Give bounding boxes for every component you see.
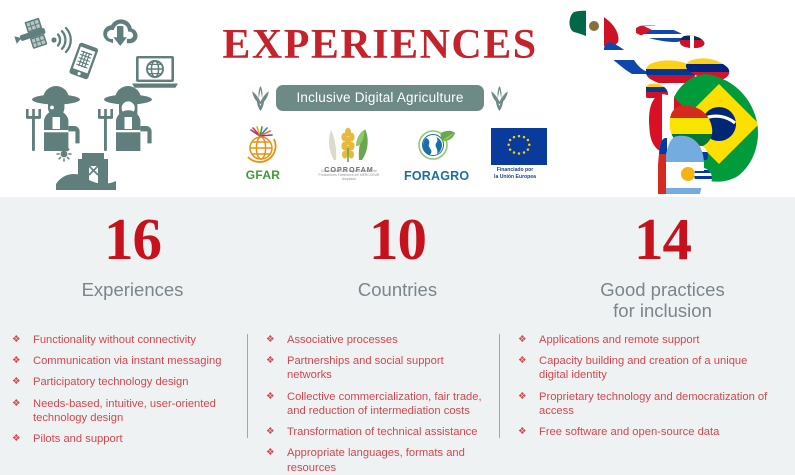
- foragro-logo: FORAGRO: [404, 126, 466, 184]
- stat-good-practices-label: Good practices for inclusion: [530, 280, 795, 321]
- bullet-columns: ❖Functionality without connectivity ❖Com…: [0, 333, 795, 445]
- header-band: EXPERIENCES Inclusive Digital Agricultur…: [0, 0, 795, 197]
- list-item: ❖Free software and open-source data: [518, 425, 779, 439]
- list-item-text: Transformation of technical assistance: [287, 426, 477, 438]
- corn-leaf-ornament-left-icon: [252, 85, 269, 111]
- experiences-list: ❖Functionality without connectivity ❖Com…: [12, 333, 236, 446]
- list-item-text: Applications and remote support: [539, 334, 699, 346]
- agriculture-icon-cluster: [4, 6, 184, 196]
- floret-bullet-icon: ❖: [518, 333, 527, 346]
- cloud-download-icon: [103, 19, 137, 46]
- floret-bullet-icon: ❖: [12, 397, 21, 410]
- flag-central-america: [602, 38, 652, 74]
- list-item: ❖Functionality without connectivity: [12, 333, 236, 347]
- stat-experiences: 16 Experiences: [0, 210, 265, 328]
- foragro-logo-text: FORAGRO: [404, 169, 466, 183]
- list-item-text: Participatory technology design: [33, 376, 188, 388]
- stat-good-practices-number: 14: [530, 210, 795, 269]
- wifi-signal-icon: [51, 28, 70, 52]
- stat-countries-number: 10: [265, 210, 530, 269]
- floret-bullet-icon: ❖: [12, 354, 21, 367]
- latin-america-flag-map: [566, 2, 792, 194]
- floret-bullet-icon: ❖: [266, 390, 275, 403]
- list-item-text: Appropriate languages, formats and resou…: [287, 447, 465, 473]
- list-item: ❖Collective commercialization, fair trad…: [266, 390, 490, 418]
- female-farmer-icon: [98, 86, 152, 151]
- floret-bullet-icon: ❖: [12, 432, 21, 445]
- list-item-text: Proprietary technology and democratizati…: [539, 391, 767, 417]
- list-item-text: Partnerships and social support networks: [287, 355, 444, 381]
- eu-funding-logo: Financiado por la Unión Europea: [488, 126, 542, 184]
- flag-cuba: [636, 22, 686, 42]
- list-item: ❖Pilots and support: [12, 432, 236, 446]
- floret-bullet-icon: ❖: [518, 390, 527, 403]
- list-item: ❖Capacity building and creation of a uni…: [518, 354, 779, 382]
- list-item-text: Capacity building and creation of a uniq…: [539, 355, 747, 381]
- list-item: ❖Communication via instant messaging: [12, 354, 236, 368]
- floret-bullet-icon: ❖: [518, 354, 527, 367]
- stat-good-practices-label-line2: for inclusion: [613, 300, 712, 321]
- gfar-logo-text: GFAR: [232, 168, 294, 182]
- stat-good-practices: 14 Good practices for inclusion: [530, 210, 795, 328]
- floret-bullet-icon: ❖: [266, 354, 275, 367]
- satellite-icon: [11, 17, 49, 53]
- floret-bullet-icon: ❖: [266, 333, 275, 346]
- gfar-logo: GFAR: [232, 126, 294, 184]
- list-item: ❖Appropriate languages, formats and reso…: [266, 446, 490, 474]
- good-practices-list-column: ❖Applications and remote support ❖Capaci…: [500, 333, 795, 445]
- partner-logos-row: GFAR: [232, 126, 542, 186]
- list-item: ❖Applications and remote support: [518, 333, 779, 347]
- stat-countries-label: Countries: [265, 280, 530, 301]
- floret-bullet-icon: ❖: [266, 446, 275, 459]
- coprofam-logo-subtext: Confederación de Organizaciones de Produ…: [316, 169, 382, 181]
- list-item-text: Pilots and support: [33, 433, 123, 445]
- infographic-page: EXPERIENCES Inclusive Digital Agricultur…: [0, 0, 795, 457]
- stat-experiences-number: 16: [0, 210, 265, 269]
- eu-funding-line2: la Unión Europea: [494, 174, 536, 180]
- list-item: ❖Participatory technology design: [12, 375, 236, 389]
- countries-list-column: ❖Associative processes ❖Partnerships and…: [248, 333, 500, 445]
- subtitle-row: Inclusive Digital Agriculture: [200, 83, 560, 113]
- floret-bullet-icon: ❖: [266, 425, 275, 438]
- corn-leaf-ornament-right-icon: [491, 85, 508, 111]
- stat-good-practices-label-line1: Good practices: [600, 279, 724, 300]
- eu-funding-text: Financiado por la Unión Europea: [488, 167, 542, 181]
- flag-dominican-republic: [678, 32, 708, 48]
- list-item-text: Collective commercialization, fair trade…: [287, 391, 482, 417]
- stats-row: 16 Experiences 10 Countries 14 Good prac…: [0, 210, 795, 328]
- floret-bullet-icon: ❖: [518, 425, 527, 438]
- smartphone-icon: [69, 42, 99, 80]
- list-item: ❖Needs-based, intuitive, user-oriented t…: [12, 397, 236, 425]
- list-item: ❖Transformation of technical assistance: [266, 425, 490, 439]
- list-item: ❖Partnerships and social support network…: [266, 354, 490, 382]
- floret-bullet-icon: ❖: [12, 333, 21, 346]
- countries-list: ❖Associative processes ❖Partnerships and…: [266, 333, 490, 475]
- list-item-text: Functionality without connectivity: [33, 334, 196, 346]
- page-title: EXPERIENCES: [200, 24, 560, 66]
- list-item-text: Associative processes: [287, 334, 398, 346]
- male-farmer-icon: [26, 86, 80, 151]
- coprofam-logo: COPROFAM Confederación de Organizaciones…: [316, 126, 382, 184]
- list-item: ❖Proprietary technology and democratizat…: [518, 390, 779, 418]
- experiences-list-column: ❖Functionality without connectivity ❖Com…: [0, 333, 248, 445]
- subtitle-badge: Inclusive Digital Agriculture: [276, 85, 483, 111]
- list-item-text: Communication via instant messaging: [33, 355, 221, 367]
- laptop-globe-icon: [132, 56, 178, 88]
- eu-flag-icon: [491, 128, 547, 165]
- stat-countries: 10 Countries: [265, 210, 530, 328]
- list-item-text: Needs-based, intuitive, user-oriented te…: [33, 398, 216, 424]
- good-practices-list: ❖Applications and remote support ❖Capaci…: [518, 333, 779, 439]
- stat-experiences-label: Experiences: [0, 280, 265, 301]
- list-item: ❖Associative processes: [266, 333, 490, 347]
- barn-sun-icon: [56, 147, 116, 190]
- floret-bullet-icon: ❖: [12, 375, 21, 388]
- eu-funding-line1: Financiado por: [497, 167, 534, 173]
- list-item-text: Free software and open-source data: [539, 426, 719, 438]
